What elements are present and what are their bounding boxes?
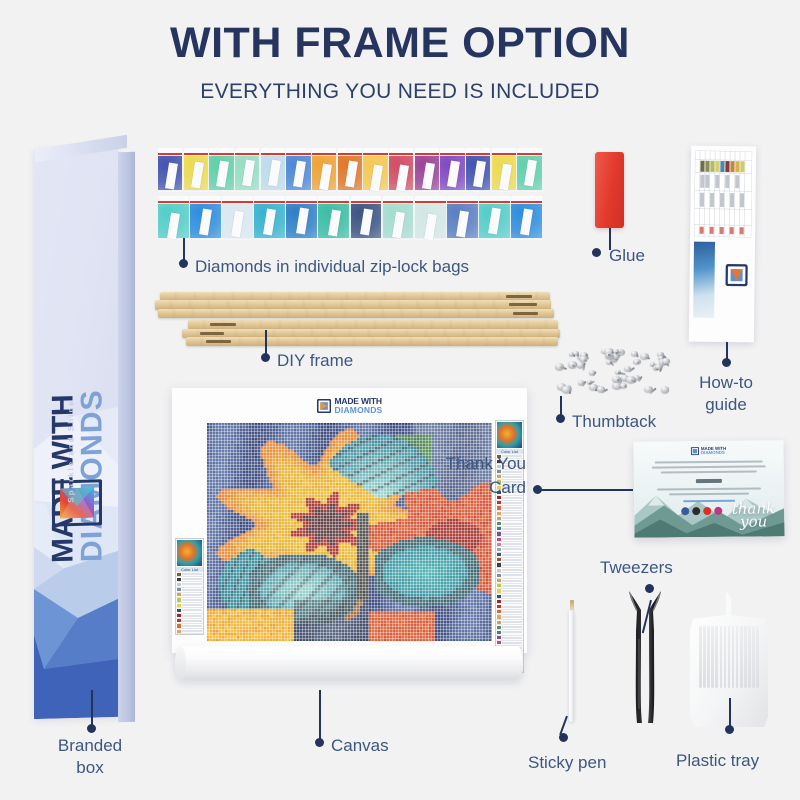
callout-diamonds: Diamonds in individual zip-lock bags: [195, 256, 469, 278]
callout-branded-box-line2: box: [20, 757, 160, 779]
color-chart-grid: [694, 151, 752, 238]
diamond-bag: [479, 196, 510, 240]
callout-diy-frame: DIY frame: [277, 350, 353, 372]
diamond-bag: [466, 148, 490, 192]
legend-swatch: [497, 506, 501, 509]
infographic-canvas: WITH FRAME OPTION EVERYTHING YOU NEED IS…: [0, 0, 800, 800]
legend-thumbnail: [177, 540, 202, 566]
legend-swatch: [177, 624, 181, 627]
legend-swatch: [497, 553, 501, 556]
diamond-bag: [261, 148, 285, 192]
tray-rib: [720, 626, 723, 688]
diamond-bag: [209, 148, 233, 192]
diamond-bag: [190, 196, 221, 240]
legend-swatch: [497, 532, 501, 535]
legend-code: [502, 621, 522, 623]
callout-thank-you-line1: Thank You: [398, 452, 526, 476]
legend-swatch: [497, 574, 501, 577]
legend-code: [502, 528, 522, 530]
legend-swatch: [497, 605, 501, 608]
legend-code: [502, 595, 522, 597]
facebook-icon: [681, 507, 689, 515]
tray-rib: [744, 626, 747, 688]
legend-swatch: [177, 583, 181, 586]
box-side-face: [118, 152, 135, 722]
legend-swatch: [497, 522, 501, 525]
diamond-bag: [338, 148, 362, 192]
callout-thank-you-line2: Card: [398, 476, 526, 500]
sticky-pen-product: [568, 600, 575, 725]
diamond-bag: [440, 148, 464, 192]
legend-swatch: [497, 641, 501, 644]
leader-plastic-tray: [729, 698, 731, 728]
legend-swatch: [177, 604, 181, 607]
diamond-bag: [351, 196, 382, 240]
diamond-bag: [286, 148, 310, 192]
legend-swatch: [497, 512, 501, 515]
legend-code: [502, 512, 522, 514]
diamond-bag: [286, 196, 317, 240]
glue-product: [595, 152, 624, 228]
bag-zip-seal: [415, 153, 439, 155]
tray-rib: [707, 626, 710, 688]
tray-rib: [748, 626, 751, 688]
thumbtack-pin: [583, 363, 586, 371]
diamond-bags-row-bottom: [158, 196, 543, 240]
diamond-bag: [415, 148, 439, 192]
legend-swatch: [177, 609, 181, 612]
callout-tweezers: Tweezers: [600, 557, 673, 579]
dot-diamonds: [179, 259, 188, 268]
bag-zip-seal: [254, 201, 285, 203]
card-discount-code: [696, 479, 722, 483]
legend-code: [182, 609, 202, 611]
thumbtack-pin: [569, 387, 572, 394]
tweezers-shape: [628, 587, 662, 727]
legend-swatch: [177, 573, 181, 576]
bag-zip-seal: [190, 201, 221, 203]
instagram-icon: [714, 507, 722, 515]
legend-code: [502, 590, 522, 592]
dot-canvas: [315, 738, 324, 747]
legend-swatch: [497, 636, 501, 639]
callout-thank-you-card: Thank You Card: [398, 452, 526, 500]
bag-zip-seal: [389, 153, 413, 155]
legend-code: [182, 625, 202, 627]
callout-branded-box: Branded box: [20, 735, 160, 779]
dot-plastic-tray: [725, 725, 734, 734]
wood-grain: [158, 309, 554, 318]
legend-code: [502, 616, 522, 618]
tray-rib: [715, 626, 718, 688]
legend-code: [502, 642, 522, 644]
diamond-bag: [222, 196, 253, 240]
thank-you-script: thankyou: [732, 503, 776, 528]
legend-code: [182, 630, 202, 632]
diamond-bag: [383, 196, 414, 240]
callout-canvas: Canvas: [331, 735, 389, 757]
legend-swatch: [177, 614, 181, 617]
dot-glue: [592, 248, 601, 257]
legend-swatch: [497, 558, 501, 561]
diamond-logo-icon: [317, 399, 331, 413]
legend-code: [182, 615, 202, 617]
bag-zip-seal: [158, 153, 182, 155]
callout-howto-line2: guide: [666, 394, 786, 416]
bag-zip-seal: [209, 153, 233, 155]
bag-zip-seal: [184, 153, 208, 155]
bag-zip-seal: [440, 153, 464, 155]
card-brand-line2: DIAMONDS: [701, 451, 726, 456]
bag-zip-seal: [158, 201, 189, 203]
tray-rib: [724, 626, 727, 688]
legend-swatch: [177, 598, 181, 601]
thumbtack: [661, 386, 670, 392]
tweezers-product: [628, 587, 662, 727]
canvas-product: MADE WITH DIAMONDS Color List Color List: [172, 388, 527, 678]
bag-zip-seal: [222, 201, 253, 203]
diamond-bags-row-top: [158, 148, 543, 192]
diamond-bag: [318, 196, 349, 240]
thumbtack-pin: [617, 372, 625, 375]
legend-row: [176, 629, 203, 634]
dot-howto: [722, 358, 731, 367]
canvas-brand-logo: MADE WITH DIAMONDS: [317, 397, 383, 414]
youtube-icon: [703, 507, 711, 515]
box-front-face: MADE WITH DIAMONDS Sparkle and Shine: [34, 147, 118, 719]
legend-code: [502, 533, 522, 535]
legend-swatch: [177, 630, 181, 633]
legend-code: [502, 543, 522, 545]
diamond-bag: [184, 148, 208, 192]
legend-swatch: [497, 501, 501, 504]
diy-frame-product: [150, 292, 560, 350]
legend-code: [502, 600, 522, 602]
bag-zip-seal: [447, 201, 478, 203]
bag-zip-seal: [511, 201, 542, 203]
legend-swatch: [497, 615, 501, 618]
legend-code: [182, 589, 202, 591]
thumbtack-pin: [609, 361, 614, 366]
diamond-bag: [447, 196, 478, 240]
legend-swatch: [497, 584, 501, 587]
diamond-bag: [235, 148, 259, 192]
tray-rib: [740, 626, 743, 688]
dot-diy-frame: [261, 353, 270, 362]
thumbtack-pin: [623, 385, 626, 388]
legend-code: [182, 573, 202, 575]
bag-zip-seal: [261, 153, 285, 155]
callout-sticky-pen: Sticky pen: [528, 752, 606, 774]
branded-box-product: MADE WITH DIAMONDS Sparkle and Shine: [34, 148, 138, 718]
legend-swatch: [497, 548, 501, 551]
frame-slat: [186, 337, 558, 346]
legend-swatch: [497, 538, 501, 541]
legend-code: [182, 594, 202, 596]
canvas-board: MADE WITH DIAMONDS Color List Color List: [172, 388, 527, 653]
bag-zip-seal: [318, 201, 349, 203]
diamond-bag: [312, 148, 336, 192]
legend-swatch: [497, 600, 501, 603]
thumbtack: [662, 358, 670, 364]
dot-thank-you: [533, 485, 542, 494]
guide-cover-photo: [693, 242, 715, 318]
tray-rib: [752, 626, 755, 688]
tray-rib: [703, 626, 706, 688]
legend-swatch: [177, 593, 181, 596]
bag-zip-seal: [383, 201, 414, 203]
tray-rib: [732, 626, 735, 688]
diamond-bag: [158, 196, 189, 240]
callout-plastic-tray: Plastic tray: [676, 750, 759, 772]
callout-howto-guide: How-to guide: [666, 372, 786, 416]
legend-code: [182, 604, 202, 606]
bag-zip-seal: [466, 153, 490, 155]
bag-zip-seal: [338, 153, 362, 155]
bag-zip-seal: [351, 201, 382, 203]
canvas-rolled-edge: [175, 646, 523, 680]
legend-swatch: [497, 563, 501, 566]
dot-branded-box: [87, 724, 96, 733]
legend-code: [502, 559, 522, 561]
legend-swatch: [177, 619, 181, 622]
legend-code: [502, 507, 522, 509]
legend-swatch: [497, 569, 501, 572]
callout-branded-box-line1: Branded: [20, 735, 160, 757]
diamond-logo-icon: [691, 448, 699, 456]
page-subtitle: EVERYTHING YOU NEED IS INCLUDED: [0, 80, 800, 104]
wood-grain: [186, 337, 558, 346]
legend-swatch: [497, 621, 501, 624]
leader-branded-box: [91, 690, 93, 728]
tray-rib: [711, 626, 714, 688]
bag-zip-seal: [286, 153, 310, 155]
legend-swatch: [497, 589, 501, 592]
tray-rib: [699, 626, 702, 688]
diamond-bag: [254, 196, 285, 240]
legend-code: [502, 574, 522, 576]
diamond-bag: [363, 148, 387, 192]
dot-sticky-pen: [559, 733, 568, 742]
guide-logo-icon: [725, 264, 747, 286]
color-legend-left: Color List: [175, 538, 204, 635]
diamond-bag: [389, 148, 413, 192]
leader-canvas: [319, 690, 321, 742]
legend-code: [502, 637, 522, 639]
legend-swatch: [497, 543, 501, 546]
box-tagline: Sparkle and Shine: [67, 383, 76, 503]
bag-zip-seal: [286, 201, 317, 203]
tray-rib: [756, 626, 759, 688]
diamond-bag: [517, 148, 541, 192]
legend-code: [502, 502, 522, 504]
legend-swatch: [497, 527, 501, 530]
legend-rows: [176, 572, 203, 634]
diamond-bag: [158, 148, 182, 192]
howto-guide-product: [689, 146, 756, 343]
leader-thank-you: [537, 489, 633, 491]
diamond-bag: [415, 196, 446, 240]
thumbtack-pin: [584, 359, 588, 361]
page-title: WITH FRAME OPTION: [0, 22, 800, 65]
legend-code: [182, 578, 202, 580]
bag-zip-seal: [415, 201, 446, 203]
bag-zip-seal: [235, 153, 259, 155]
diamond-bag: [511, 196, 542, 240]
legend-swatch: [497, 610, 501, 613]
guide-color-chart: [694, 151, 752, 238]
legend-swatch: [497, 579, 501, 582]
callout-howto-line1: How-to: [666, 372, 786, 394]
tiktok-icon: [692, 507, 700, 515]
bag-zip-seal: [312, 153, 336, 155]
legend-code: [502, 606, 522, 608]
legend-code: [502, 538, 522, 540]
legend-code: [182, 583, 202, 585]
tray-rib: [728, 626, 731, 688]
thumbtack-pin: [593, 372, 597, 377]
legend-code: [502, 523, 522, 525]
bag-zip-seal: [492, 153, 516, 155]
legend-code: [502, 626, 522, 628]
bag-zip-seal: [517, 153, 541, 155]
legend-code: [182, 599, 202, 601]
legend-code: [502, 580, 522, 582]
dot-tweezers: [645, 584, 654, 593]
legend-code: [502, 564, 522, 566]
card-brand-logo: MADE WITH DIAMONDS: [691, 447, 726, 456]
dot-thumbtack: [556, 414, 565, 423]
legend-code: [502, 585, 522, 587]
callout-glue: Glue: [609, 245, 645, 267]
legend-code: [502, 554, 522, 556]
legend-swatch: [497, 631, 501, 634]
canvas-brand-line2: DIAMONDS: [335, 406, 383, 415]
legend-code: [502, 611, 522, 613]
legend-code: [502, 517, 522, 519]
legend-thumbnail: [497, 422, 522, 448]
legend-code: [502, 631, 522, 633]
legend-code: [182, 620, 202, 622]
callout-thumbtack: Thumbtack: [572, 411, 656, 433]
thumbtack-product: [555, 348, 675, 396]
legend-swatch: [177, 578, 181, 581]
diamond-bag: [492, 148, 516, 192]
bag-zip-seal: [363, 153, 387, 155]
thumbtack-pin: [636, 352, 638, 357]
diamond-logo-icon: [52, 479, 102, 526]
pen-body: [569, 610, 574, 722]
bag-zip-seal: [479, 201, 510, 203]
legend-swatch: [497, 595, 501, 598]
legend-code: [502, 569, 522, 571]
frame-slat: [158, 309, 554, 318]
thank-you-card-product: MADE WITH DIAMONDS thankyou: [634, 440, 785, 538]
legend-swatch: [497, 626, 501, 629]
legend-swatch: [177, 588, 181, 591]
legend-code: [502, 548, 522, 550]
legend-swatch: [497, 517, 501, 520]
